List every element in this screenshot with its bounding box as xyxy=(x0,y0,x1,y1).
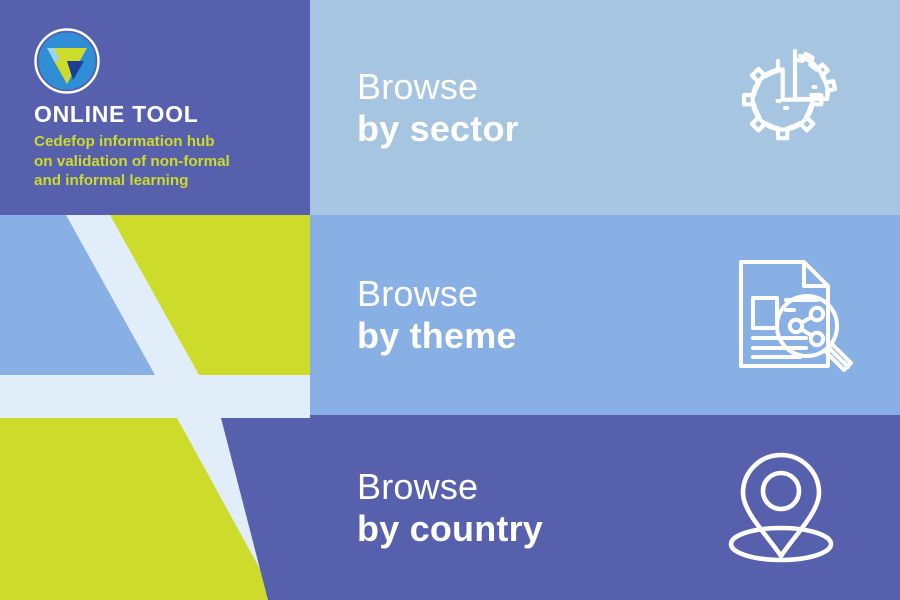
brand-panel: ONLINE TOOL Cedefop information hub on v… xyxy=(0,0,310,215)
browse-by-sector-row[interactable]: Browse by sector xyxy=(310,0,900,215)
browse-by-country-icon-wrap xyxy=(696,446,866,570)
browse-by-theme-row[interactable]: Browse by theme xyxy=(310,215,900,415)
browse-by-country-row[interactable]: Browse by country xyxy=(310,415,900,600)
browse-by-theme-label: Browse by theme xyxy=(310,276,708,354)
map-pin-icon xyxy=(719,446,843,570)
browse-by-country-label: Browse by country xyxy=(310,469,696,547)
browse-by-country-line-1: Browse xyxy=(357,469,696,505)
browse-banner: ONLINE TOOL Cedefop information hub on v… xyxy=(0,0,900,600)
cedefop-v-logo-icon xyxy=(34,28,100,94)
browse-by-sector-line-1: Browse xyxy=(357,69,706,105)
brand-subtitle: Cedefop information hub on validation of… xyxy=(34,132,286,190)
left-column: ONLINE TOOL Cedefop information hub on v… xyxy=(0,0,310,600)
brand-title: ONLINE TOOL xyxy=(34,102,286,126)
document-magnifier-share-icon xyxy=(728,250,858,380)
browse-by-sector-line-2: by sector xyxy=(357,111,706,147)
browse-rows: Browse by sector xyxy=(310,0,900,600)
gear-pie-chart-icon xyxy=(721,38,861,178)
brand-subtitle-line-2: on validation of non-formal xyxy=(34,153,230,170)
brand-subtitle-line-3: and informal learning xyxy=(34,172,188,189)
browse-by-country-line-2: by country xyxy=(357,511,696,547)
browse-by-theme-icon-wrap xyxy=(708,250,878,380)
browse-by-sector-label: Browse by sector xyxy=(310,69,706,147)
browse-by-theme-line-2: by theme xyxy=(357,318,708,354)
brand-subtitle-line-1: Cedefop information hub xyxy=(34,133,215,150)
browse-by-sector-icon-wrap xyxy=(706,38,876,178)
browse-by-theme-line-1: Browse xyxy=(357,276,708,312)
